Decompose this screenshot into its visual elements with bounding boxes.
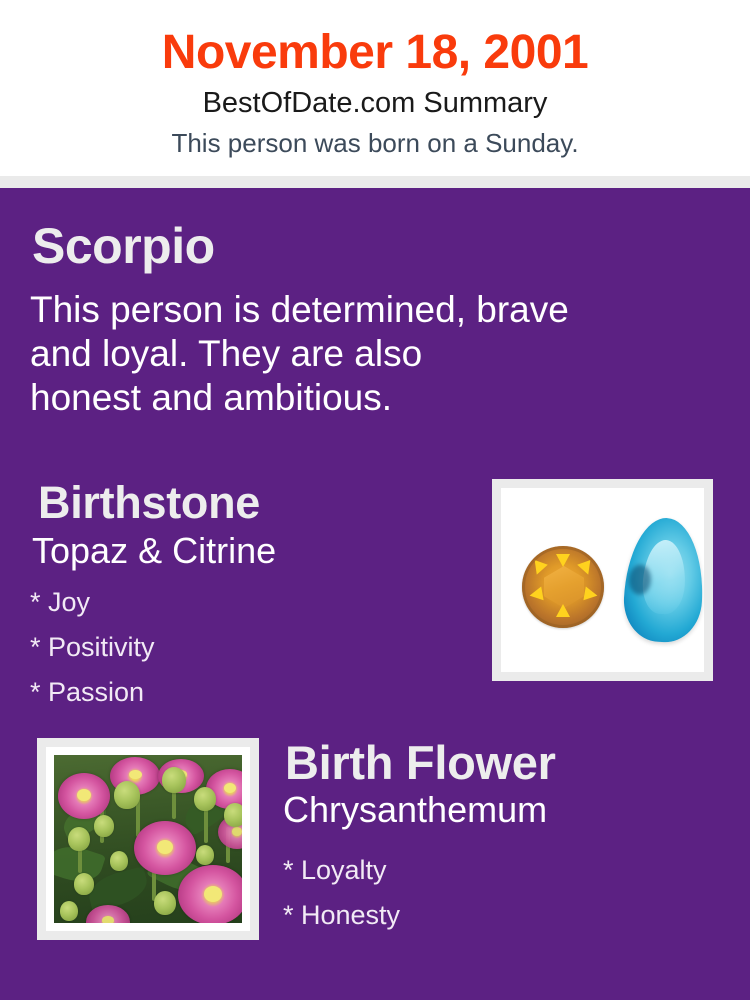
birthstone-heading: Birthstone [38, 476, 260, 530]
list-item: * Passion [30, 670, 155, 715]
header-divider [0, 176, 750, 188]
birthstone-trait-list: * Joy * Positivity * Passion [30, 580, 155, 715]
site-subtitle: BestOfDate.com Summary [0, 86, 750, 120]
birth-day-note: This person was born on a Sunday. [0, 127, 750, 159]
birth-flower-photo [37, 738, 259, 940]
birthstone-name: Topaz & Citrine [32, 529, 276, 573]
page-title: November 18, 2001 [0, 24, 750, 82]
list-item: * Joy [30, 580, 155, 625]
birthstone-photo-mat [501, 488, 704, 672]
zodiac-desc-line-1: This person is determined, brave [30, 289, 569, 330]
birthstone-photo-image [509, 496, 696, 664]
blue-topaz-gem-icon [622, 516, 704, 644]
birth-flower-heading: Birth Flower [285, 735, 556, 791]
citrine-gem-icon [522, 546, 604, 628]
list-item: * Honesty [283, 893, 400, 938]
zodiac-desc-line-2: and loyal. They are also [30, 333, 422, 374]
zodiac-desc-line-3: honest and ambitious. [30, 377, 392, 418]
birth-flower-trait-list: * Loyalty * Honesty [283, 848, 400, 938]
zodiac-sign-name: Scorpio [32, 217, 215, 275]
birthstone-photo [492, 479, 713, 681]
birth-flower-name: Chrysanthemum [283, 788, 547, 832]
birth-flower-photo-image [54, 755, 242, 923]
birth-flower-photo-mat [46, 747, 250, 931]
zodiac-sign-description: This person is determined, brave and loy… [30, 288, 700, 420]
list-item: * Positivity [30, 625, 155, 670]
list-item: * Loyalty [283, 848, 400, 893]
page-header: November 18, 2001 BestOfDate.com Summary… [0, 0, 750, 176]
summary-panel: Scorpio This person is determined, brave… [0, 188, 750, 1000]
